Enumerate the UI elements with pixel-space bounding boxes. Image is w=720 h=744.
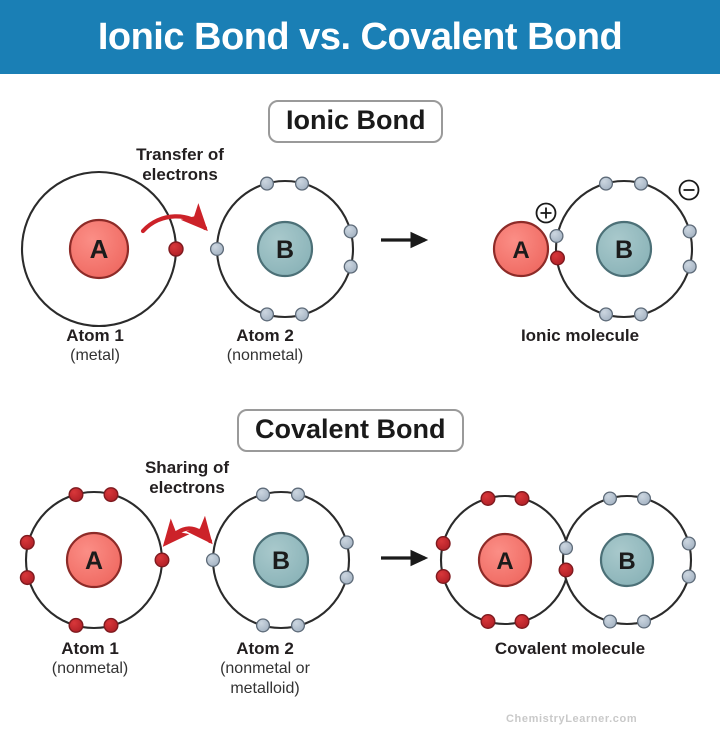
caption-covalent-atom-2: Atom 2 (nonmetal or metalloid) bbox=[190, 638, 340, 699]
electron-blue bbox=[344, 260, 357, 273]
electron-shell-circle-right bbox=[563, 496, 691, 624]
electron-blue bbox=[682, 570, 695, 583]
annotation-line-1: Transfer of bbox=[136, 145, 224, 164]
electron-blue bbox=[550, 230, 563, 243]
shared-electron-red bbox=[559, 563, 573, 577]
electron-blue bbox=[635, 308, 648, 321]
caption-ionic-atom-1: Atom 1 (metal) bbox=[25, 325, 165, 366]
electron-red bbox=[436, 537, 450, 551]
section-title-ionic-bond: Ionic Bond bbox=[268, 100, 443, 143]
covalent-molecule-group: A B bbox=[436, 492, 695, 629]
electron-red bbox=[436, 570, 450, 584]
electron-blue bbox=[638, 615, 651, 628]
electron-blue bbox=[292, 619, 305, 632]
electron-blue bbox=[211, 243, 224, 256]
caption-main: Atom 1 bbox=[25, 325, 165, 346]
nucleus-atom-a-cation bbox=[494, 222, 548, 276]
electron-red bbox=[21, 571, 35, 585]
electron-shell-circle bbox=[22, 172, 176, 326]
electron-blue bbox=[635, 177, 648, 190]
nucleus-label-b: B bbox=[272, 547, 290, 575]
caption-sub: (nonmetal) bbox=[195, 346, 335, 366]
nucleus-label-a: A bbox=[512, 237, 529, 264]
charge-minus-icon bbox=[680, 181, 699, 200]
electron-blue bbox=[296, 177, 309, 190]
electron-blue bbox=[261, 308, 274, 321]
electron-blue bbox=[683, 225, 696, 238]
covalent-atom-2-group: B bbox=[207, 488, 354, 632]
electron-blue bbox=[683, 260, 696, 273]
nucleus-label-a: A bbox=[496, 548, 513, 575]
electron-blue bbox=[604, 492, 617, 505]
shared-electron-blue bbox=[560, 542, 573, 555]
caption-sub-line-1: (nonmetal or bbox=[190, 659, 340, 679]
caption-covalent-molecule: Covalent molecule bbox=[470, 638, 670, 659]
ionic-molecule-group: A B bbox=[494, 177, 699, 321]
caption-main: Atom 1 bbox=[20, 638, 160, 659]
caption-sub: (nonmetal) bbox=[20, 659, 160, 679]
annotation-line-2: electrons bbox=[149, 478, 225, 497]
caption-main: Atom 2 bbox=[195, 325, 335, 346]
nucleus-label-b: B bbox=[615, 236, 633, 264]
caption-main: Covalent molecule bbox=[470, 638, 670, 659]
nucleus-label-a: A bbox=[90, 234, 109, 264]
electron-shell-circle bbox=[213, 492, 349, 628]
page-title: Ionic Bond vs. Covalent Bond bbox=[98, 16, 622, 59]
electron-red bbox=[69, 488, 83, 502]
electron-blue bbox=[257, 619, 270, 632]
electron-red bbox=[169, 242, 183, 256]
ionic-atom-2-group: B bbox=[211, 177, 358, 321]
annotation-line-2: electrons bbox=[142, 165, 218, 184]
covalent-atom-1-group: A bbox=[21, 488, 169, 632]
watermark-attribution: ChemistryLearner.com bbox=[506, 713, 637, 725]
caption-main: Ionic molecule bbox=[500, 325, 660, 346]
electron-blue bbox=[600, 308, 613, 321]
page-header-banner: Ionic Bond vs. Covalent Bond bbox=[0, 0, 720, 74]
electron-blue bbox=[261, 177, 274, 190]
nucleus-atom-b bbox=[601, 534, 653, 586]
nucleus-atom-b bbox=[254, 533, 308, 587]
caption-sub: (metal) bbox=[25, 346, 165, 366]
caption-ionic-molecule: Ionic molecule bbox=[500, 325, 660, 346]
electron-blue bbox=[344, 225, 357, 238]
nucleus-atom-b-anion bbox=[597, 222, 651, 276]
electron-red bbox=[515, 492, 529, 506]
electron-blue bbox=[207, 554, 220, 567]
nucleus-label-b: B bbox=[618, 548, 635, 575]
nucleus-atom-a bbox=[67, 533, 121, 587]
electron-red bbox=[21, 536, 35, 550]
caption-covalent-atom-1: Atom 1 (nonmetal) bbox=[20, 638, 160, 679]
section-title-covalent-bond: Covalent Bond bbox=[237, 409, 464, 452]
annotation-line-1: Sharing of bbox=[145, 458, 229, 477]
annotation-transfer-of-electrons: Transfer of electrons bbox=[105, 145, 255, 184]
electron-shell-circle-left bbox=[441, 496, 569, 624]
electron-red bbox=[69, 619, 83, 633]
electron-blue bbox=[340, 571, 353, 584]
electron-red bbox=[481, 492, 495, 506]
electron-blue bbox=[292, 488, 305, 501]
electron-shell-circle bbox=[26, 492, 162, 628]
transfer-arrow-icon bbox=[143, 216, 205, 231]
electron-shell-circle bbox=[217, 181, 353, 317]
nucleus-label-b: B bbox=[276, 236, 294, 264]
electron-red bbox=[155, 553, 169, 567]
caption-ionic-atom-2: Atom 2 (nonmetal) bbox=[195, 325, 335, 366]
nucleus-label-a: A bbox=[85, 547, 103, 575]
electron-red bbox=[104, 619, 118, 633]
caption-sub-line-2: metalloid) bbox=[190, 679, 340, 699]
electron-shell-circle bbox=[556, 181, 692, 317]
sharing-arrow-icon bbox=[166, 528, 210, 543]
electron-red-transferred bbox=[551, 251, 565, 265]
charge-plus-icon bbox=[537, 204, 556, 223]
caption-main: Atom 2 bbox=[190, 638, 340, 659]
nucleus-atom-b bbox=[258, 222, 312, 276]
electron-red bbox=[515, 615, 529, 629]
electron-blue bbox=[340, 536, 353, 549]
annotation-sharing-of-electrons: Sharing of electrons bbox=[112, 458, 262, 497]
electron-blue bbox=[638, 492, 651, 505]
nucleus-atom-a bbox=[479, 534, 531, 586]
electron-red bbox=[481, 615, 495, 629]
electron-blue bbox=[600, 177, 613, 190]
ionic-atom-1-group: A bbox=[22, 172, 183, 326]
electron-blue bbox=[682, 537, 695, 550]
electron-blue bbox=[604, 615, 617, 628]
electron-blue bbox=[296, 308, 309, 321]
nucleus-atom-a bbox=[70, 220, 128, 278]
